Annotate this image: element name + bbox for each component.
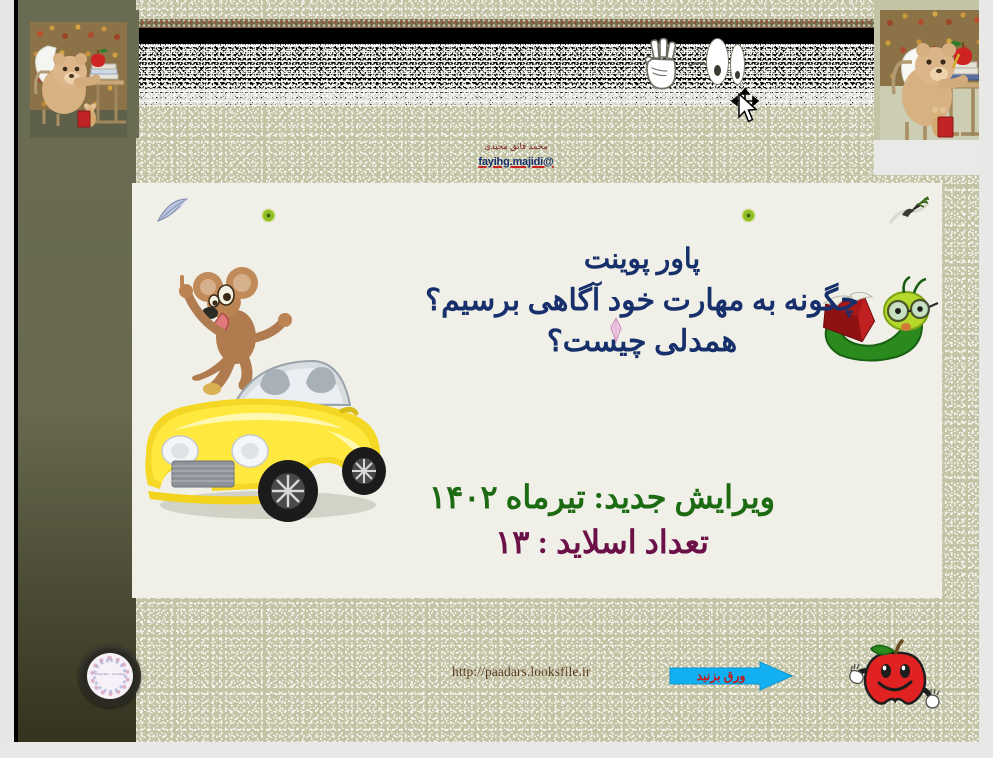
slide-title-line-1: پاور پوینت (362, 239, 922, 280)
green-gem-icon-left (262, 209, 275, 222)
teddy-bear-right-image (874, 0, 993, 175)
oval-pupil (735, 71, 740, 79)
slide-subtitle-block: ویرایش جدید: تیرماه ۱۴۰۲ تعداد اسلاید : … (292, 475, 912, 565)
pink-ribbon-icon (608, 316, 624, 344)
arrow-right-icon (668, 660, 794, 692)
floral-badge: eTeacher - learning (79, 645, 141, 707)
right-strip (979, 0, 993, 758)
slide-title-block: پاور پوینت چگونه به مهارت خود آگاهی برسی… (362, 239, 922, 362)
screen-canvas: eTeacher - learning (0, 0, 993, 758)
next-slide-button[interactable]: ورق بزنید (668, 660, 794, 692)
bottom-strip (0, 742, 993, 758)
floral-badge-inner: eTeacher - learning (87, 653, 133, 699)
cartoon-hand-wave-icon (641, 38, 681, 90)
author-block: محمد فائق مجیدی fayihg.majidi@ (436, 141, 596, 170)
floral-wreath-inner-icon (93, 659, 127, 693)
teddy-bear-left-image (18, 10, 139, 138)
slide-canvas[interactable]: پاور پوینت چگونه به مهارت خود آگاهی برسی… (132, 183, 942, 598)
oval-pupil (714, 65, 721, 76)
floral-badge-label: eTeacher - learning (87, 672, 133, 676)
author-email-link[interactable]: fayihg.majidi@ (478, 155, 553, 169)
banner-noise-texture (136, 42, 979, 106)
quill-feather-icon (156, 197, 190, 223)
swallow-olive-branch-icon (888, 193, 930, 227)
smiling-apple-image (849, 637, 941, 715)
slide-title-line-2: چگونه به مهارت خود آگاهی برسیم؟ (362, 280, 922, 321)
left-gutter (0, 0, 14, 758)
author-name: محمد فائق مجیدی (436, 141, 596, 152)
white-oval-ear-right-icon (730, 44, 745, 85)
mouse-cursor-icon (737, 93, 759, 125)
revision-line: ویرایش جدید: تیرماه ۱۴۰۲ (292, 475, 912, 520)
footer-url-link[interactable]: http://paadars.looksfile.ir (452, 664, 590, 680)
slide-count-line: تعداد اسلاید : ۱۳ (292, 520, 912, 565)
top-banner (136, 28, 979, 115)
white-oval-ear-left-icon (706, 38, 729, 85)
slide-title-line-3: همدلی چیست؟ (362, 321, 922, 362)
green-gem-icon-right (742, 209, 755, 222)
